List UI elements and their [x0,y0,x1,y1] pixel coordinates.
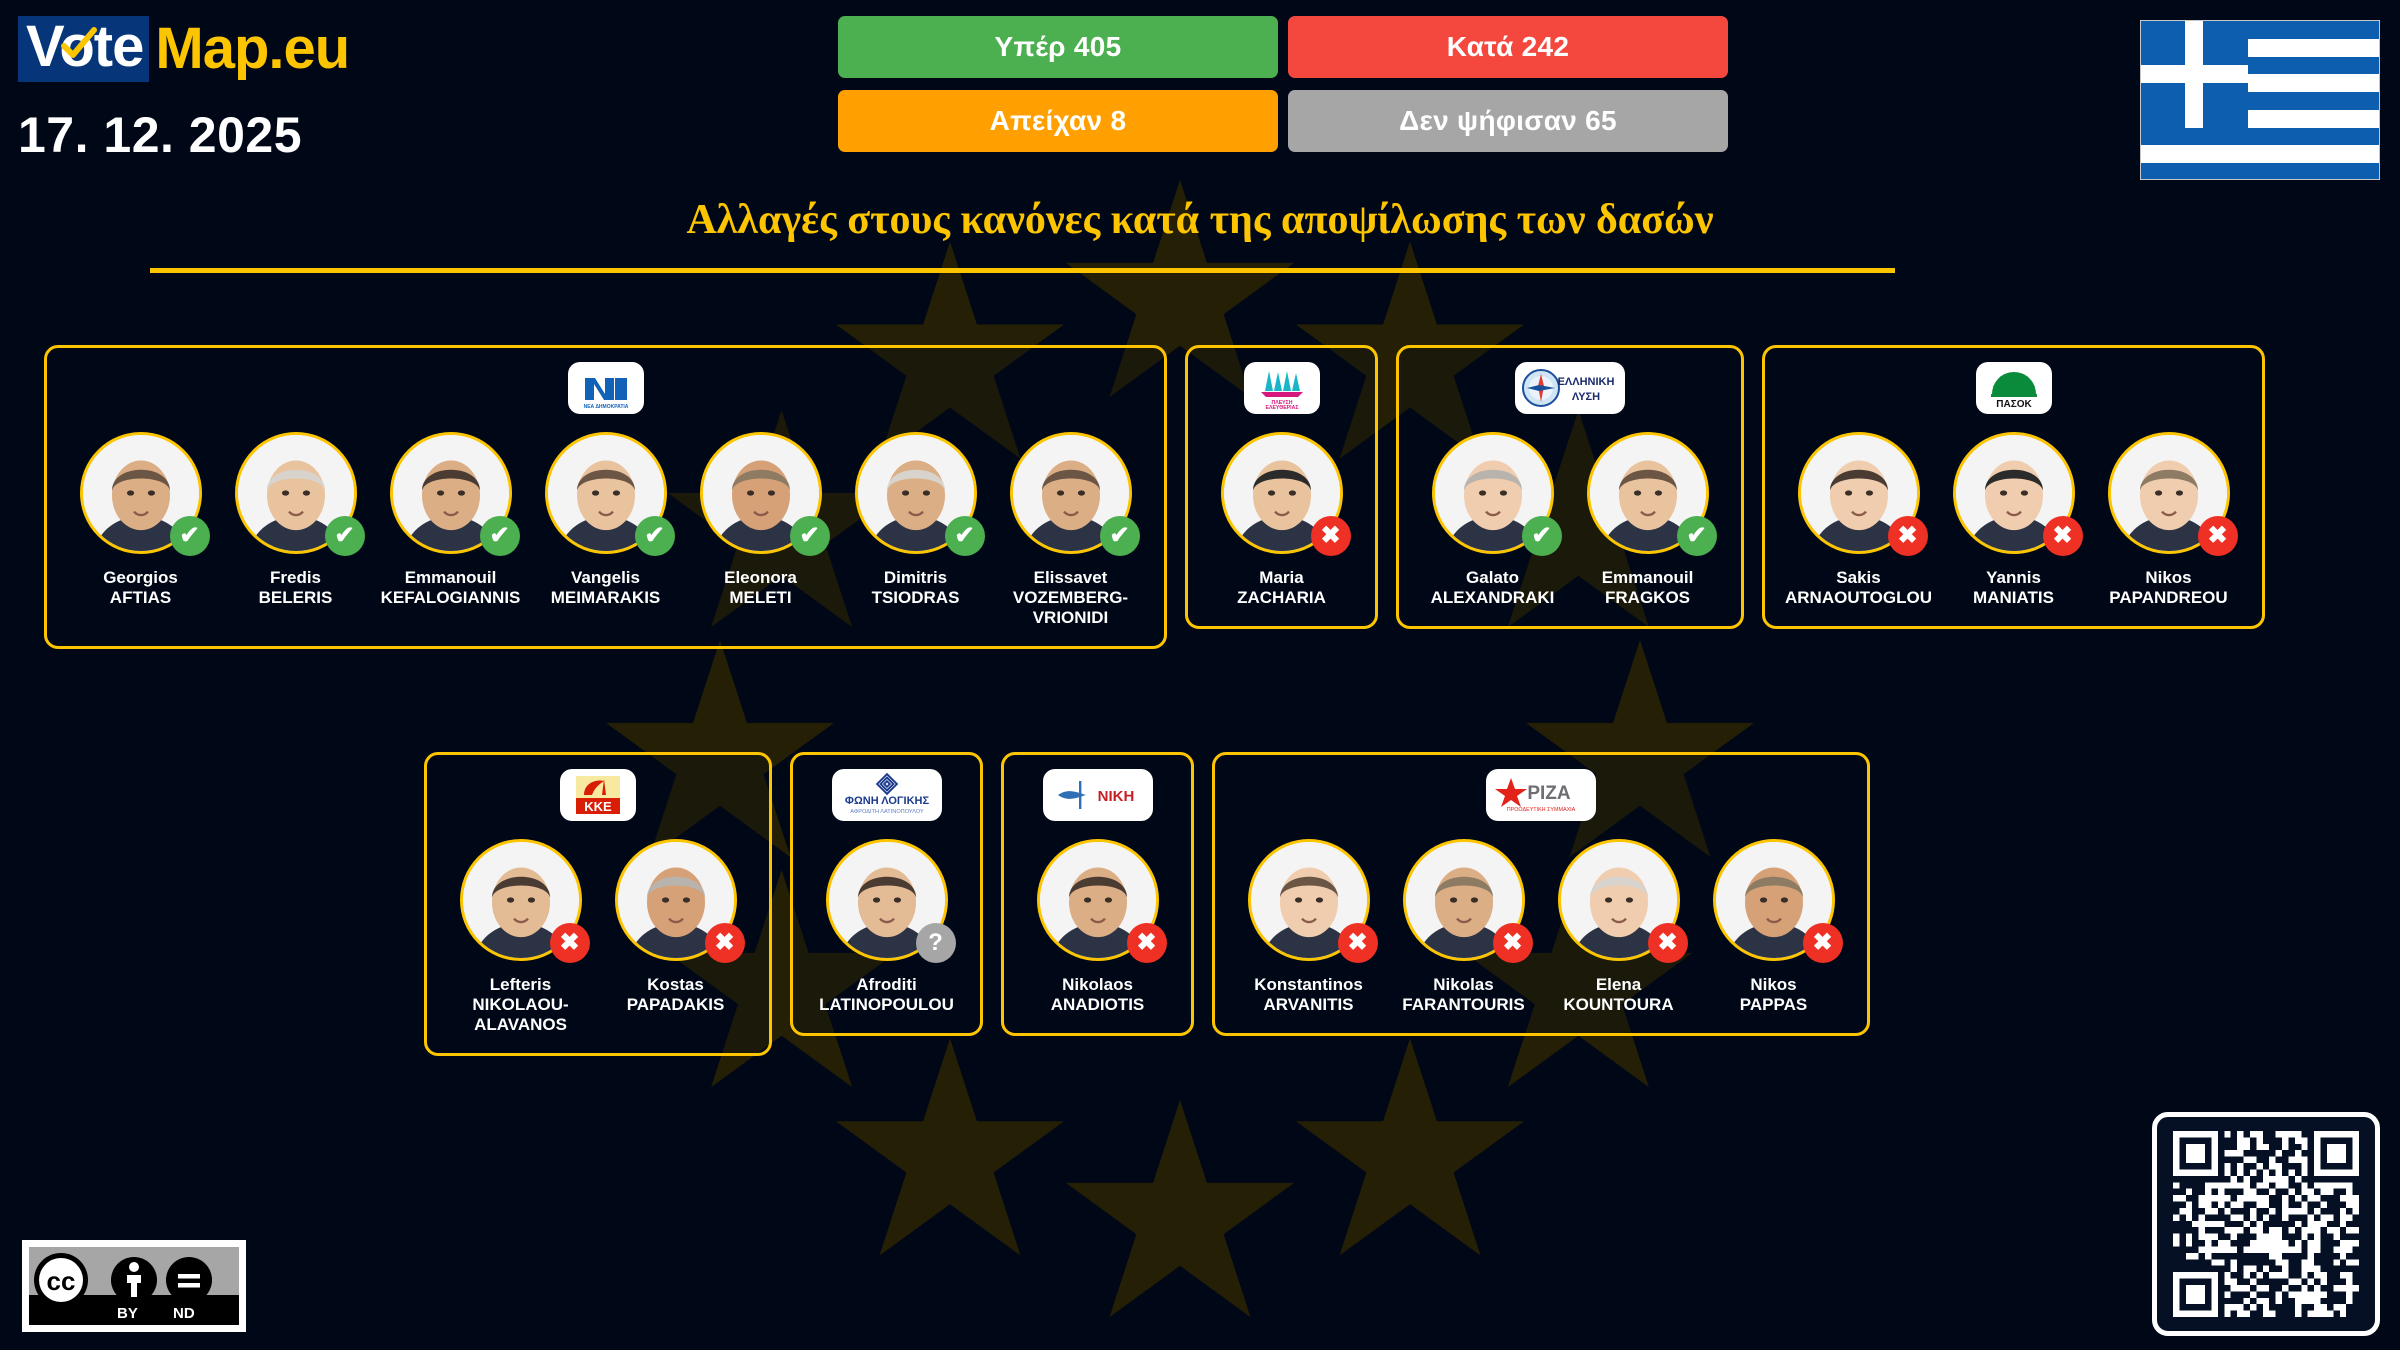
member-first-name: Emmanouil [1572,568,1724,588]
avatar-box[interactable]: ✔ [390,432,512,554]
member-card[interactable]: ✖ Elena KOUNTOURA [1541,839,1696,1015]
page-root: Vote Map.eu 17. 12. 2025 Υπέρ 405 Κατά 2… [0,0,2400,1350]
party-card: ΦΩΝΗ ΛΟΓΙΚΗΣ ΑΦΡΟΔΙΤΗ ΛΑΤΙΝΟΠΟΥΛΟΥ ? Afr… [790,752,983,1036]
member-card[interactable]: ✖ Sakis ARNAOUTOGLOU [1781,432,1936,608]
kke-logo[interactable]: KKE [560,769,636,821]
title-divider [150,268,1895,273]
vote-badge-no: ✖ [1493,923,1533,963]
svg-text:ΝΙΚΗ: ΝΙΚΗ [1097,788,1134,805]
member-first-name: Maria [1206,568,1358,588]
member-name: Fredis BELERIS [220,568,372,608]
member-card[interactable]: ✔ Elissavet VOZEMBERG-VRIONIDI [993,432,1148,628]
vote-badge-yes: ✔ [1522,516,1562,556]
vote-badge-no: ✖ [1127,923,1167,963]
member-first-name: Nikos [2093,568,2245,588]
member-card[interactable]: ✔ Fredis BELERIS [218,432,373,608]
member-first-name: Eleonora [685,568,837,588]
tally-not-voted[interactable]: Δεν ψήφισαν 65 [1288,90,1728,152]
member-list: ? Afroditi LATINOPOULOU [809,839,964,1015]
vote-badge-unknown: ? [916,923,956,963]
member-first-name: Afroditi [811,975,963,995]
svg-text:ΑΦΡΟΔΙΤΗ ΛΑΤΙΝΟΠΟΥΛΟΥ: ΑΦΡΟΔΙΤΗ ΛΑΤΙΝΟΠΟΥΛΟΥ [850,809,924,815]
vote-badge-yes: ✔ [1100,516,1140,556]
member-name: Afroditi LATINOPOULOU [811,975,963,1015]
avatar-box[interactable]: ✔ [545,432,667,554]
svg-text:ΠΡΟΟΔΕΥΤΙΚΗ ΣΥΜΜΑΧΙΑ: ΠΡΟΟΔΕΥΤΙΚΗ ΣΥΜΜΑΧΙΑ [1507,807,1576,813]
member-name: Yannis MANIATIS [1938,568,2090,608]
vote-badge-no: ✖ [2198,516,2238,556]
vote-badge-no: ✖ [1803,923,1843,963]
member-card[interactable]: ✖ Nikos PAPPAS [1696,839,1851,1015]
elliniki-lysi-logo[interactable]: ΕΛΛΗΝΙΚΗ ΛΥΣΗ [1515,362,1625,414]
vote-badge-no: ✖ [550,923,590,963]
avatar-box[interactable]: ✖ [2108,432,2230,554]
logo-map-text: Map.eu [149,20,349,78]
member-card[interactable]: ✖ Kostas PAPADAKIS [598,839,753,1015]
member-card[interactable]: ✔ Eleonora MELETI [683,432,838,608]
member-last-name: AFTIAS [65,588,217,608]
member-first-name: Nikolas [1388,975,1540,995]
svg-text:ΡΙΖΑ: ΡΙΖΑ [1527,783,1571,804]
check-icon [56,22,100,66]
cc-by-label: BY [117,1305,138,1322]
member-first-name: Sakis [1783,568,1935,588]
member-card[interactable]: ✖ Nikolas FARANTOURIS [1386,839,1541,1015]
svg-text:ΛΥΣΗ: ΛΥΣΗ [1572,391,1600,403]
vote-badge-yes: ✔ [945,516,985,556]
member-card[interactable]: ✔ Galato ALEXANDRAKI [1415,432,1570,608]
avatar-box[interactable]: ✖ [1713,839,1835,961]
avatar-box[interactable]: ✖ [460,839,582,961]
member-last-name: FRAGKOS [1572,588,1724,608]
member-first-name: Konstantinos [1233,975,1385,995]
member-card[interactable]: ✖ Nikos PAPANDREOU [2091,432,2246,608]
member-first-name: Elissavet [995,568,1147,588]
avatar-box[interactable]: ✔ [1587,432,1709,554]
member-name: Maria ZACHARIA [1206,568,1358,608]
member-first-name: Fredis [220,568,372,588]
svg-text:ΕΛΛΗΝΙΚΗ: ΕΛΛΗΝΙΚΗ [1558,376,1615,388]
vote-badge-no: ✖ [1338,923,1378,963]
avatar-box[interactable]: ✔ [235,432,357,554]
avatar-box[interactable]: ✔ [855,432,977,554]
qr-code-icon [2171,1131,2361,1317]
member-name: Emmanouil FRAGKOS [1572,568,1724,608]
member-last-name: KEFALOGIANNIS [375,588,527,608]
avatar-box[interactable]: ✔ [700,432,822,554]
party-card: ΝΙΚΗ ✖ Nikolaos ANADIOTIS [1001,752,1194,1036]
site-logo[interactable]: Vote Map.eu 17. 12. 2025 [18,16,349,164]
avatar-box[interactable]: ✖ [1403,839,1525,961]
tally-abstained[interactable]: Απείχαν 8 [838,90,1278,152]
vote-badge-yes: ✔ [790,516,830,556]
member-last-name: NIKOLAOU-ALAVANOS [445,995,597,1035]
member-list: ✖ Maria ZACHARIA [1204,432,1359,608]
vote-badge-no: ✖ [1888,516,1928,556]
member-last-name: ALEXANDRAKI [1417,588,1569,608]
vote-badge-no: ✖ [1311,516,1351,556]
tally-no[interactable]: Κατά 242 [1288,16,1728,78]
member-card[interactable]: ✔ Dimitris TSIODRAS [838,432,993,608]
member-name: Vangelis MEIMARAKIS [530,568,682,608]
member-card[interactable]: ✖ Nikolaos ANADIOTIS [1020,839,1175,1015]
vote-badge-yes: ✔ [635,516,675,556]
member-last-name: KOUNTOURA [1543,995,1695,1015]
member-card[interactable]: ✖ Maria ZACHARIA [1204,432,1359,608]
tally-yes[interactable]: Υπέρ 405 [838,16,1278,78]
svg-text:ΦΩΝΗ ΛΟΓΙΚΗΣ: ΦΩΝΗ ΛΟΓΙΚΗΣ [844,795,929,807]
member-last-name: ARVANITIS [1233,995,1385,1015]
member-first-name: Galato [1417,568,1569,588]
avatar-box[interactable]: ✖ [1798,432,1920,554]
avatar-box[interactable]: ? [826,839,948,961]
member-last-name: ANADIOTIS [1022,995,1174,1015]
greece-flag-icon [2140,20,2380,180]
member-name: Elissavet VOZEMBERG-VRIONIDI [995,568,1147,628]
nea-dimokratia-logo[interactable]: ΝΕΑ ΔΗΜΟΚΡΑΤΙΑ [568,362,644,414]
avatar-box[interactable]: ✖ [1221,432,1343,554]
vote-badge-no: ✖ [2043,516,2083,556]
member-name: Lefteris NIKOLAOU-ALAVANOS [445,975,597,1035]
member-last-name: MELETI [685,588,837,608]
member-card[interactable]: ? Afroditi LATINOPOULOU [809,839,964,1015]
member-name: Dimitris TSIODRAS [840,568,992,608]
vote-badge-no: ✖ [705,923,745,963]
vote-badge-yes: ✔ [480,516,520,556]
member-list: ✔ Galato ALEXANDRAKI ✔ Emmanou [1415,432,1725,608]
member-card[interactable]: ✖ Yannis MANIATIS [1936,432,2091,608]
member-first-name: Dimitris [840,568,992,588]
avatar-box[interactable]: ✔ [1010,432,1132,554]
member-last-name: PAPANDREOU [2093,588,2245,608]
vote-date: 17. 12. 2025 [18,106,349,164]
member-name: Konstantinos ARVANITIS [1233,975,1385,1015]
member-name: Georgios AFTIAS [65,568,217,608]
member-name: Nikolas FARANTOURIS [1388,975,1540,1015]
member-first-name: Kostas [600,975,752,995]
syriza-logo[interactable]: ΡΙΖΑ ΠΡΟΟΔΕΥΤΙΚΗ ΣΥΜΜΑΧΙΑ [1486,769,1596,821]
vote-badge-yes: ✔ [1677,516,1717,556]
party-card: ΠΛΕΥΣΗ ΕΛΕΥΘΕΡΙΑΣ ✖ Maria ZACHARIA [1185,345,1378,629]
vote-badge-no: ✖ [1648,923,1688,963]
member-last-name: PAPPAS [1698,995,1850,1015]
member-last-name: PAPADAKIS [600,995,752,1015]
member-last-name: ZACHARIA [1206,588,1358,608]
member-name: Nikos PAPPAS [1698,975,1850,1015]
party-row-2: KKE ✖ Lefteris NIKOLAOU-ALAVANOS [424,752,1888,1056]
member-last-name: LATINOPOULOU [811,995,963,1015]
svg-text:ΝΕΑ ΔΗΜΟΚΡΑΤΙΑ: ΝΕΑ ΔΗΜΟΚΡΑΤΙΑ [583,404,628,410]
member-card[interactable]: ✖ Konstantinos ARVANITIS [1231,839,1386,1015]
member-last-name: FARANTOURIS [1388,995,1540,1015]
member-list: ✖ Lefteris NIKOLAOU-ALAVANOS ✖ [443,839,753,1035]
member-last-name: MANIATIS [1938,588,2090,608]
page-title: Αλλαγές στους κανόνες κατά της αποψίλωση… [0,196,2400,244]
qr-code[interactable] [2152,1112,2380,1336]
member-list: ✖ Sakis ARNAOUTOGLOU ✖ Yannis [1781,432,2246,608]
member-first-name: Georgios [65,568,217,588]
party-card: ΕΛΛΗΝΙΚΗ ΛΥΣΗ ✔ Galato ALEXANDRAKI [1396,345,1744,629]
pasok-logo[interactable]: ΠΑΣΟΚ [1976,362,2052,414]
vote-badge-yes: ✔ [170,516,210,556]
party-row-1: ΝΕΑ ΔΗΜΟΚΡΑΤΙΑ ✔ Georgios AFTIAS [44,345,2283,649]
member-name: Nikolaos ANADIOTIS [1022,975,1174,1015]
member-first-name: Emmanouil [375,568,527,588]
party-card: ΡΙΖΑ ΠΡΟΟΔΕΥΤΙΚΗ ΣΥΜΜΑΧΙΑ ✖ Konstantinos… [1212,752,1870,1036]
member-list: ✔ Georgios AFTIAS ✔ Fredis [63,432,1148,628]
member-card[interactable]: ✔ Georgios AFTIAS [63,432,218,608]
avatar-box[interactable]: ✖ [615,839,737,961]
member-first-name: Vangelis [530,568,682,588]
member-first-name: Lefteris [445,975,597,995]
member-card[interactable]: ✖ Lefteris NIKOLAOU-ALAVANOS [443,839,598,1035]
avatar-box[interactable]: ✖ [1953,432,2075,554]
party-card: ΠΑΣΟΚ ✖ Sakis ARNAOUTOGLOU [1762,345,2265,629]
member-name: Nikos PAPANDREOU [2093,568,2245,608]
vote-badge-yes: ✔ [325,516,365,556]
member-first-name: Yannis [1938,568,2090,588]
member-last-name: VOZEMBERG-VRIONIDI [995,588,1147,628]
member-name: Elena KOUNTOURA [1543,975,1695,1015]
member-first-name: Nikolaos [1022,975,1174,995]
member-name: Emmanouil KEFALOGIANNIS [375,568,527,608]
member-list: ✖ Nikolaos ANADIOTIS [1020,839,1175,1015]
member-first-name: Elena [1543,975,1695,995]
plefsi-eleftherias-logo[interactable]: ΠΛΕΥΣΗ ΕΛΕΥΘΕΡΙΑΣ [1244,362,1320,414]
member-card[interactable]: ✔ Emmanouil FRAGKOS [1570,432,1725,608]
avatar-box[interactable]: ✖ [1248,839,1370,961]
party-card: ΝΕΑ ΔΗΜΟΚΡΑΤΙΑ ✔ Georgios AFTIAS [44,345,1167,649]
svg-text:cc: cc [47,1266,76,1296]
party-card: KKE ✖ Lefteris NIKOLAOU-ALAVANOS [424,752,772,1056]
svg-text:ΠΑΣΟΚ: ΠΑΣΟΚ [1996,399,2032,410]
foni-logikis-logo[interactable]: ΦΩΝΗ ΛΟΓΙΚΗΣ ΑΦΡΟΔΙΤΗ ΛΑΤΙΝΟΠΟΥΛΟΥ [832,769,942,821]
avatar-box[interactable]: ✔ [1432,432,1554,554]
member-last-name: MEIMARAKIS [530,588,682,608]
member-card[interactable]: ✔ Emmanouil KEFALOGIANNIS [373,432,528,608]
svg-text:ΕΛΕΥΘΕΡΙΑΣ: ΕΛΕΥΘΕΡΙΑΣ [1265,405,1298,411]
member-name: Kostas PAPADAKIS [600,975,752,1015]
avatar-box[interactable]: ✖ [1037,839,1159,961]
creative-commons-by-nd-badge[interactable]: cc BY ND [22,1240,246,1332]
member-card[interactable]: ✔ Vangelis MEIMARAKIS [528,432,683,608]
member-list: ✖ Konstantinos ARVANITIS ✖ Nik [1231,839,1851,1015]
member-name: Eleonora MELETI [685,568,837,608]
avatar-box[interactable]: ✔ [80,432,202,554]
vote-tally-group: Υπέρ 405 Κατά 242 Απείχαν 8 Δεν ψήφισαν … [838,16,1728,152]
member-name: Sakis ARNAOUTOGLOU [1783,568,1935,608]
member-last-name: BELERIS [220,588,372,608]
svg-text:KKE: KKE [584,799,612,814]
member-first-name: Nikos [1698,975,1850,995]
member-name: Galato ALEXANDRAKI [1417,568,1569,608]
niki-logo[interactable]: ΝΙΚΗ [1043,769,1153,821]
member-last-name: ARNAOUTOGLOU [1783,588,1935,608]
member-last-name: TSIODRAS [840,588,992,608]
cc-nd-label: ND [173,1305,195,1322]
avatar-box[interactable]: ✖ [1558,839,1680,961]
